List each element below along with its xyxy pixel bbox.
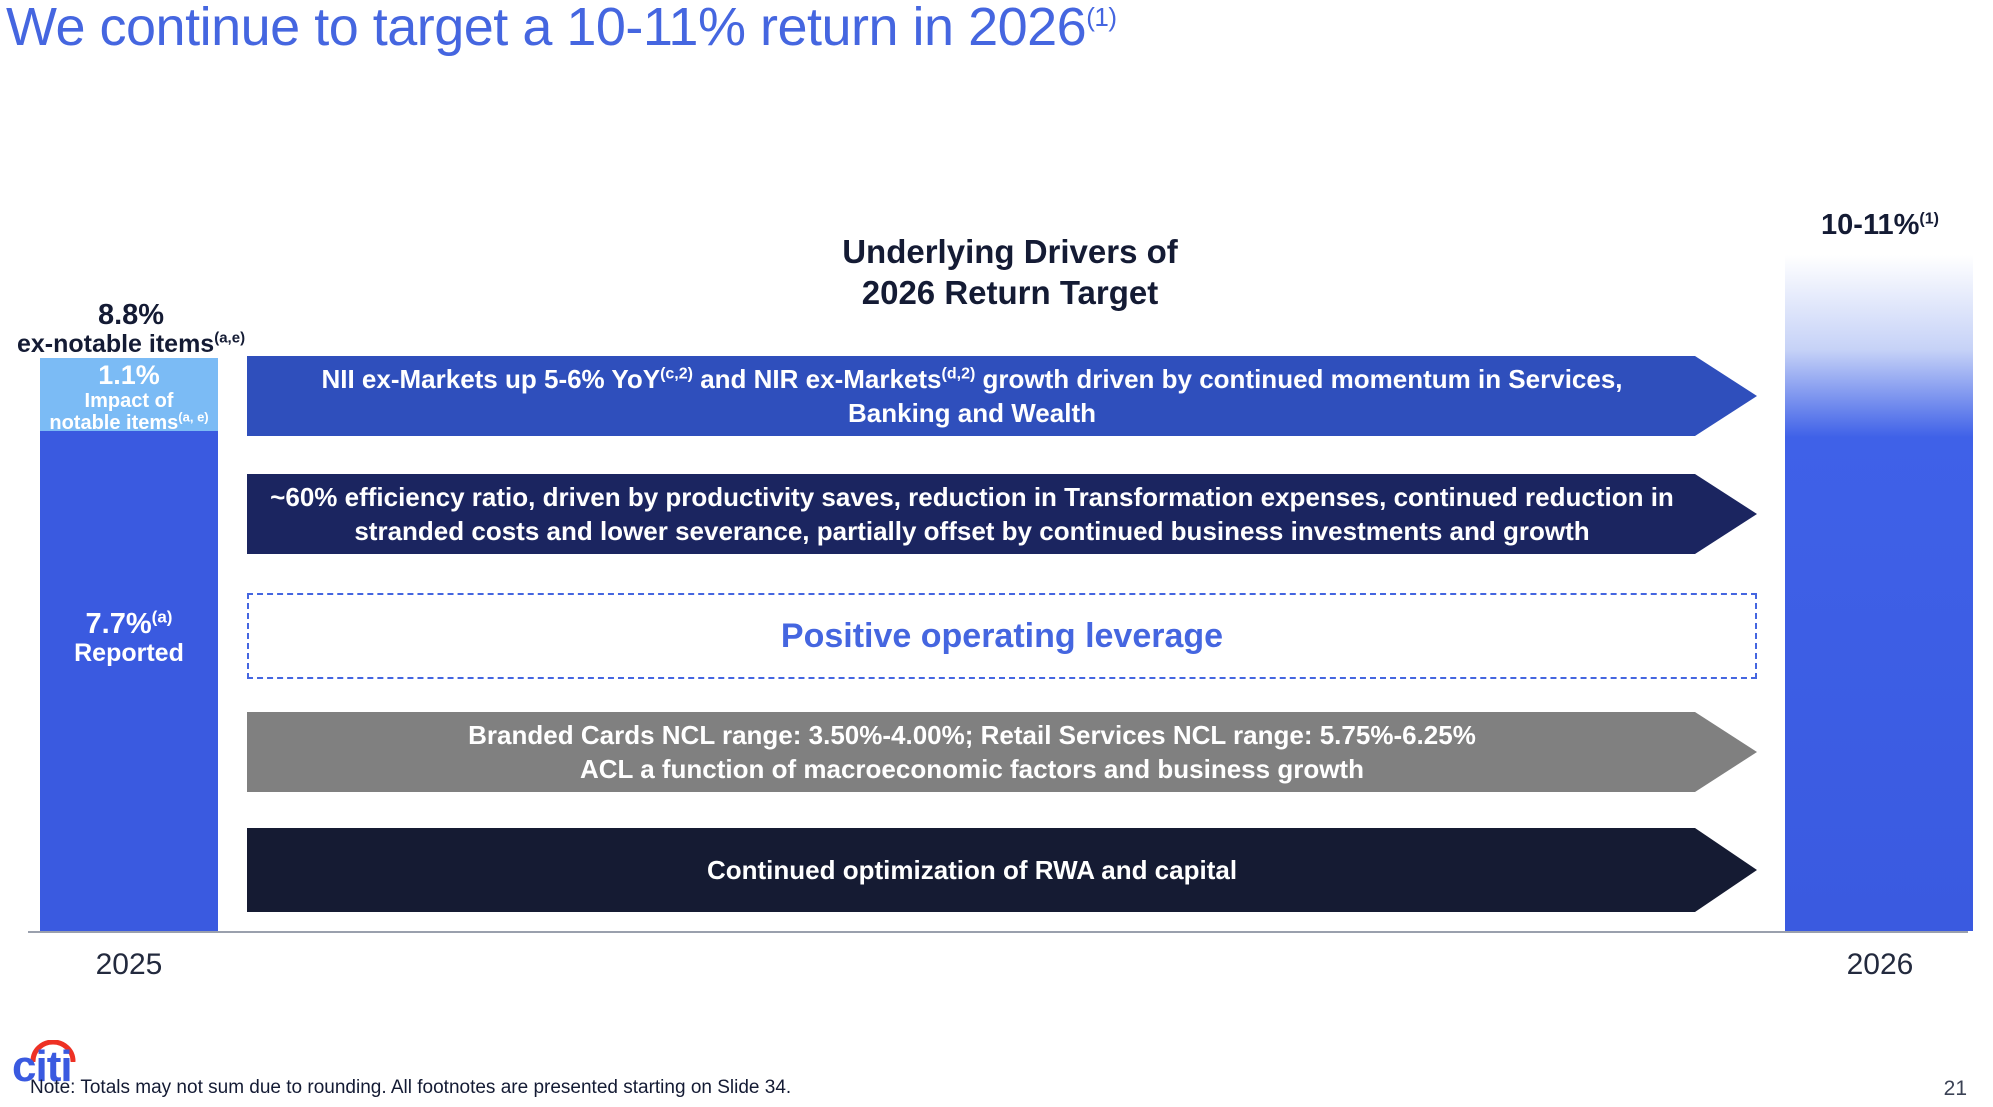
bar-2025-ex-notable-value: 8.8% (6, 300, 256, 331)
bar-2026-target-superscript: (1) (1919, 210, 1939, 227)
bar-2025-segment-notable-items[interactable]: 1.1% Impact of notable items(a, e) (40, 358, 218, 431)
page-number: 21 (1944, 1077, 1967, 1101)
reported-label-group: 7.7%(a) Reported (40, 609, 218, 667)
x-axis-label-2026: 2026 (1770, 948, 1990, 982)
driver-banner-nii-nir-text: NII ex-Markets up 5-6% YoY(c,2) and NIR … (321, 362, 1622, 430)
drivers-heading-line2: 2026 Return Target (640, 272, 1380, 313)
driver-banner-efficiency-text: ~60% efficiency ratio, driven by product… (270, 480, 1674, 548)
bar-2025[interactable]: 1.1% Impact of notable items(a, e) 7.7%(… (40, 358, 218, 931)
driver-banner-efficiency[interactable]: ~60% efficiency ratio, driven by product… (247, 474, 1757, 554)
bar-2025-top-annotation: 8.8% ex-notable items(a,e) (6, 300, 256, 358)
bar-2025-segment-reported[interactable]: 7.7%(a) Reported (40, 431, 218, 931)
driver-banner-ncl[interactable]: Branded Cards NCL range: 3.50%-4.00%; Re… (247, 712, 1757, 792)
driver-banner-rwa[interactable]: Continued optimization of RWA and capita… (247, 828, 1757, 912)
notable-items-value: 1.1% (40, 360, 218, 390)
driver-banner-rwa-text: Continued optimization of RWA and capita… (707, 853, 1237, 887)
bar-2026-target-value: 10-11% (1821, 209, 1919, 241)
notable-items-superscript: (a, e) (178, 409, 208, 424)
x-axis-label-2025: 2025 (19, 948, 239, 982)
reported-superscript: (a) (152, 607, 173, 626)
drivers-heading: Underlying Drivers of 2026 Return Target (640, 231, 1380, 313)
callout-positive-operating-leverage[interactable]: Positive operating leverage (247, 593, 1757, 679)
driver-banner-ncl-text: Branded Cards NCL range: 3.50%-4.00%; Re… (468, 718, 1476, 786)
footer-note: Note: Totals may not sum due to rounding… (30, 1077, 791, 1099)
bar-2026[interactable] (1785, 255, 1973, 931)
reported-label: Reported (40, 640, 218, 667)
bar-2025-ex-notable-label: ex-notable items(a,e) (6, 331, 256, 358)
bar-2025-ex-notable-superscript: (a,e) (214, 330, 245, 347)
drivers-heading-line1: Underlying Drivers of (640, 231, 1380, 272)
nir-superscript: (d,2) (942, 365, 976, 382)
chart-plot-area: 8.8% ex-notable items(a,e) 1.1% Impact o… (0, 0, 1993, 1107)
callout-positive-operating-leverage-text: Positive operating leverage (781, 617, 1223, 656)
bar-2026-top-annotation: 10-11%(1) (1770, 209, 1990, 242)
x-axis-line (28, 931, 1968, 933)
reported-value: 7.7%(a) (40, 609, 218, 640)
driver-banner-nii-nir[interactable]: NII ex-Markets up 5-6% YoY(c,2) and NIR … (247, 356, 1757, 436)
nii-superscript: (c,2) (660, 365, 693, 382)
